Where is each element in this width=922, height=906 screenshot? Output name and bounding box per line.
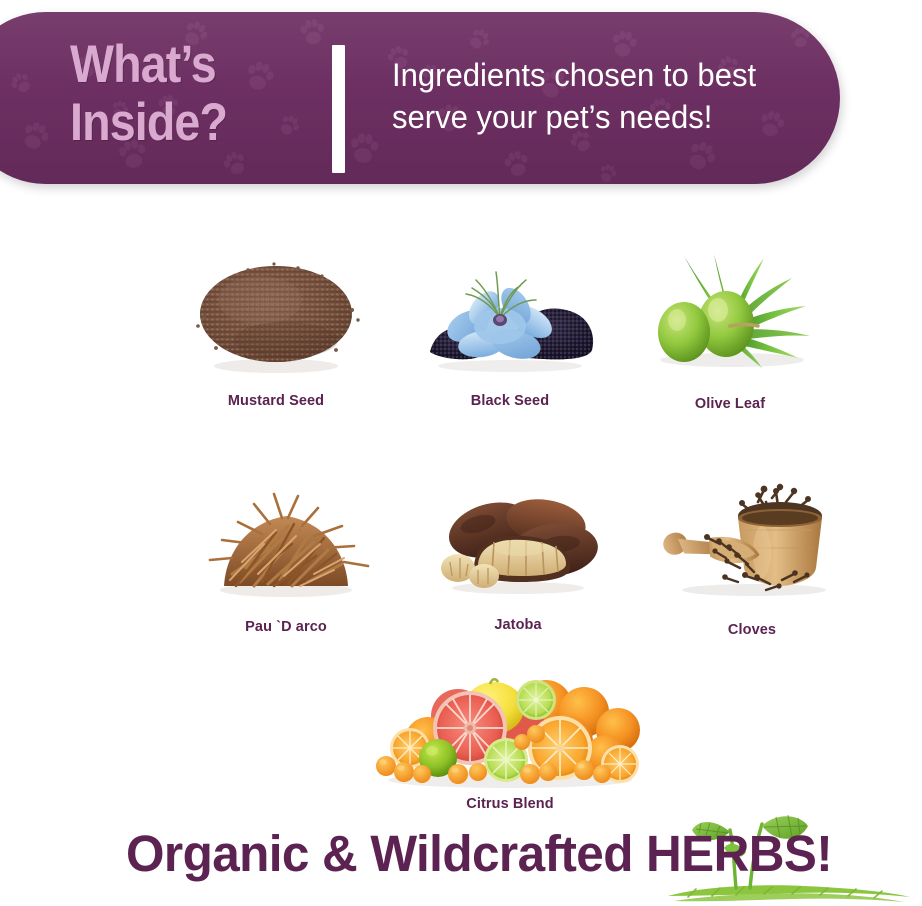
green-olives-with-leaves-image xyxy=(640,248,820,383)
ingredient-cloves: Cloves xyxy=(662,472,842,647)
caption-cloves: Cloves xyxy=(662,622,842,638)
citrus-fruit-pile-image xyxy=(370,668,650,790)
header-banner: What’s Inside? Ingredients chosen to bes… xyxy=(0,12,840,184)
banner-divider xyxy=(332,45,345,173)
ingredient-pau-d-arco: Pau `D arco xyxy=(196,478,376,648)
footer-section: Organic & Wildcrafted HERBS! xyxy=(0,818,922,906)
banner-tagline-line2: serve your pet’s needs! xyxy=(392,96,799,138)
cloves-in-wooden-bowl-image xyxy=(662,472,842,602)
footer-headline: Organic & Wildcrafted HERBS! xyxy=(126,824,832,883)
banner-tagline-line1: Ingredients chosen to best xyxy=(392,54,799,96)
banner-tagline: Ingredients chosen to best serve your pe… xyxy=(392,54,799,138)
caption-citrus-blend: Citrus Blend xyxy=(370,796,650,812)
ingredient-black-seed: Black Seed xyxy=(420,252,600,422)
caption-black-seed: Black Seed xyxy=(420,393,600,409)
caption-olive-leaf: Olive Leaf xyxy=(640,396,820,412)
caption-pau-d-arco: Pau `D arco xyxy=(196,619,376,635)
caption-mustard-seed: Mustard Seed xyxy=(186,393,366,409)
caption-jatoba: Jatoba xyxy=(428,617,608,633)
infographic-page: What’s Inside? Ingredients chosen to bes… xyxy=(0,0,922,906)
ingredient-olive-leaf: Olive Leaf xyxy=(640,248,820,418)
nigella-flower-and-black-seeds-image xyxy=(420,252,600,377)
shredded-bark-pile-image xyxy=(196,478,376,603)
ingredient-mustard-seed: Mustard Seed xyxy=(186,248,366,418)
banner-title-line1: What’s xyxy=(70,36,272,94)
banner-title: What’s Inside? xyxy=(70,36,272,152)
ingredient-jatoba: Jatoba xyxy=(428,472,608,647)
ingredient-citrus-blend: Citrus Blend xyxy=(370,668,650,818)
mustard-seed-pile-image xyxy=(186,248,366,378)
banner-title-line2: Inside? xyxy=(70,94,272,152)
jatoba-pods-image xyxy=(428,472,608,602)
